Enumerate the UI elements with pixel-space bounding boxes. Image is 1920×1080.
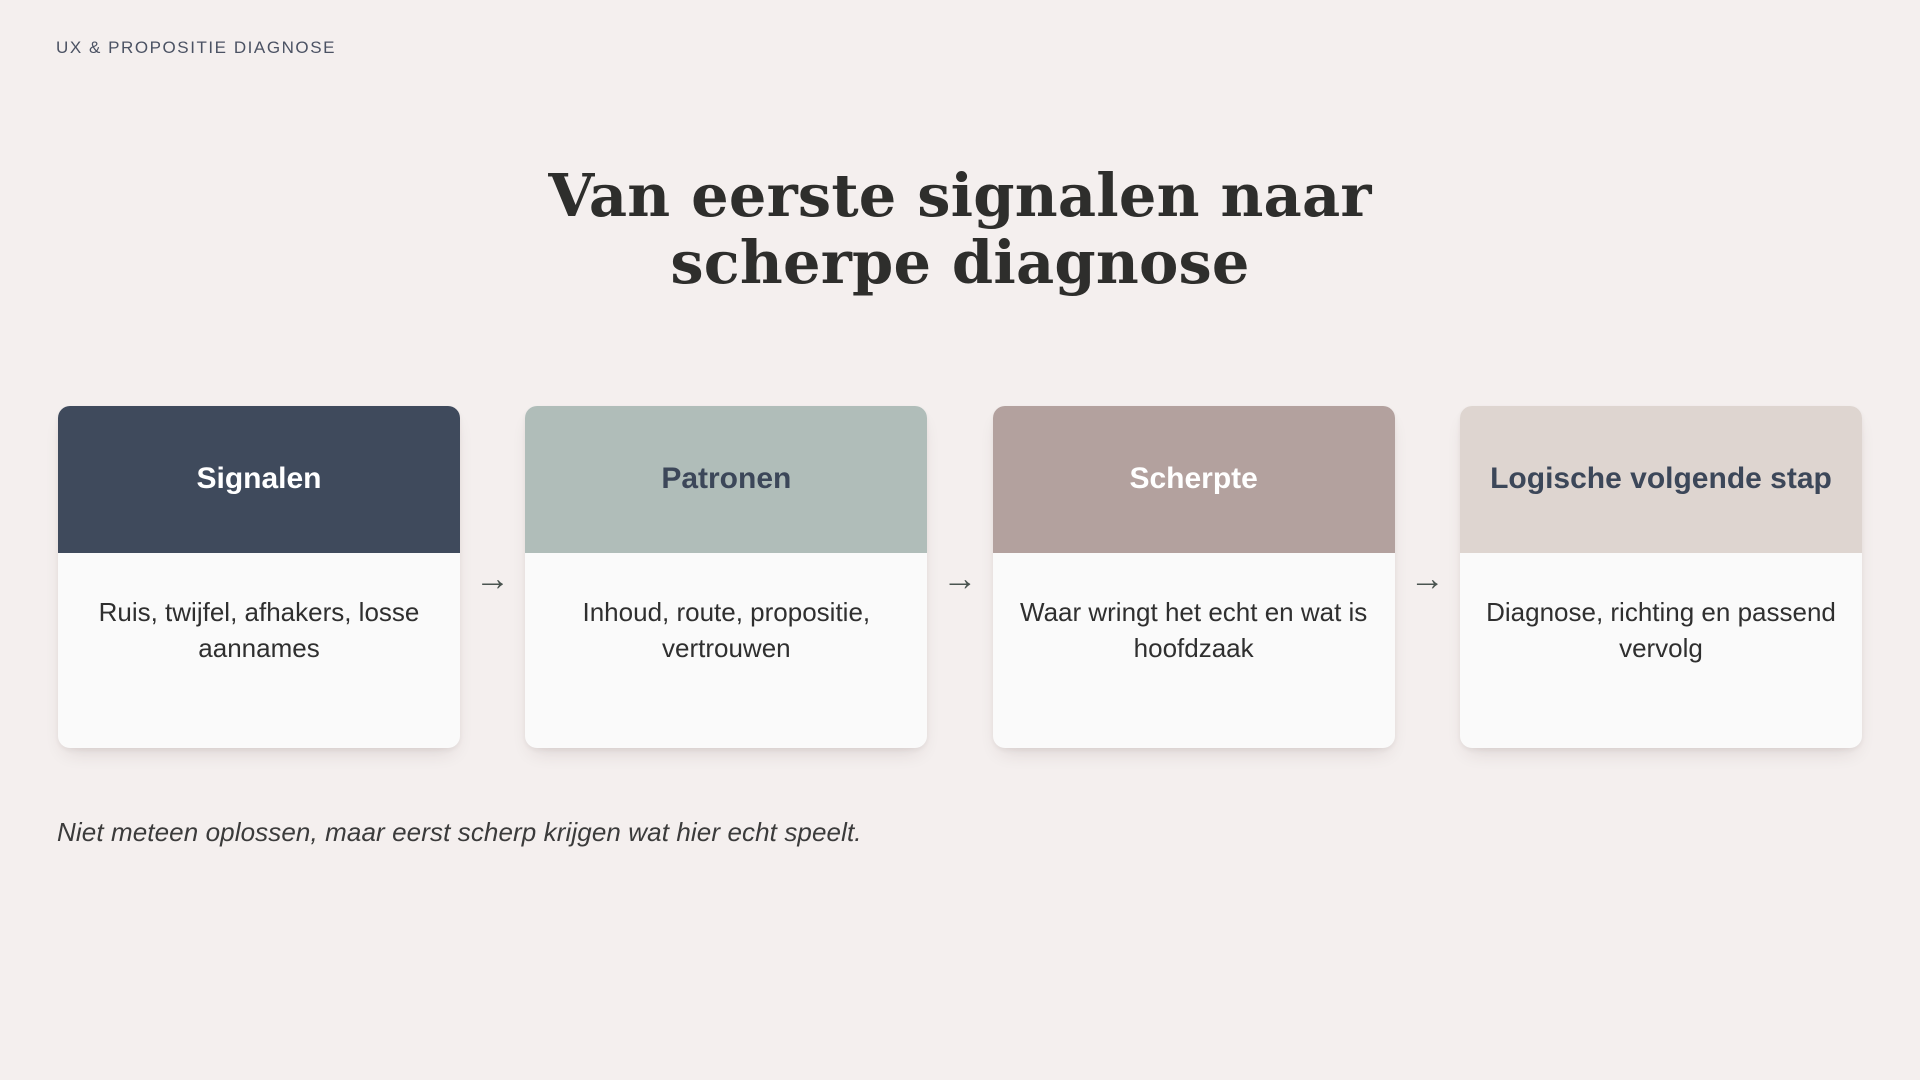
flow-step-body-signalen: Ruis, twijfel, afhakers, losse aannames <box>58 553 460 748</box>
flow-step-body-scherpte: Waar wringt het echt en wat is hoofdzaak <box>993 553 1395 748</box>
arrow-right-icon-2: → <box>927 406 992 748</box>
footnote-caption: Niet meteen oplossen, maar eerst scherp … <box>57 817 862 848</box>
flow-step-header-patronen: Patronen <box>525 406 927 553</box>
flow-step-header-logische-volgende-stap: Logische volgende stap <box>1460 406 1862 553</box>
flow-diagram: Signalen Ruis, twijfel, afhakers, losse … <box>58 406 1862 748</box>
arrow-right-icon-3: → <box>1395 406 1460 748</box>
flow-step-card-logische-volgende-stap[interactable]: Logische volgende stap Diagnose, richtin… <box>1460 406 1862 748</box>
flow-step-body-patronen: Inhoud, route, propositie, vertrouwen <box>525 553 927 748</box>
flow-step-card-patronen[interactable]: Patronen Inhoud, route, propositie, vert… <box>525 406 927 748</box>
page-title-line-2: scherpe diagnose <box>0 230 1920 297</box>
flow-step-header-scherpte: Scherpte <box>993 406 1395 553</box>
page-title: Van eerste signalen naar scherpe diagnos… <box>0 163 1920 296</box>
eyebrow-label: UX & PROPOSITIE DIAGNOSE <box>56 38 336 58</box>
slide: UX & PROPOSITIE DIAGNOSE Van eerste sign… <box>0 0 1920 1080</box>
page-title-line-1: Van eerste signalen naar <box>0 163 1920 230</box>
flow-step-body-logische-volgende-stap: Diagnose, richting en passend vervolg <box>1460 553 1862 748</box>
arrow-right-icon-1: → <box>460 406 525 748</box>
flow-step-card-scherpte[interactable]: Scherpte Waar wringt het echt en wat is … <box>993 406 1395 748</box>
flow-step-header-signalen: Signalen <box>58 406 460 553</box>
flow-step-card-signalen[interactable]: Signalen Ruis, twijfel, afhakers, losse … <box>58 406 460 748</box>
